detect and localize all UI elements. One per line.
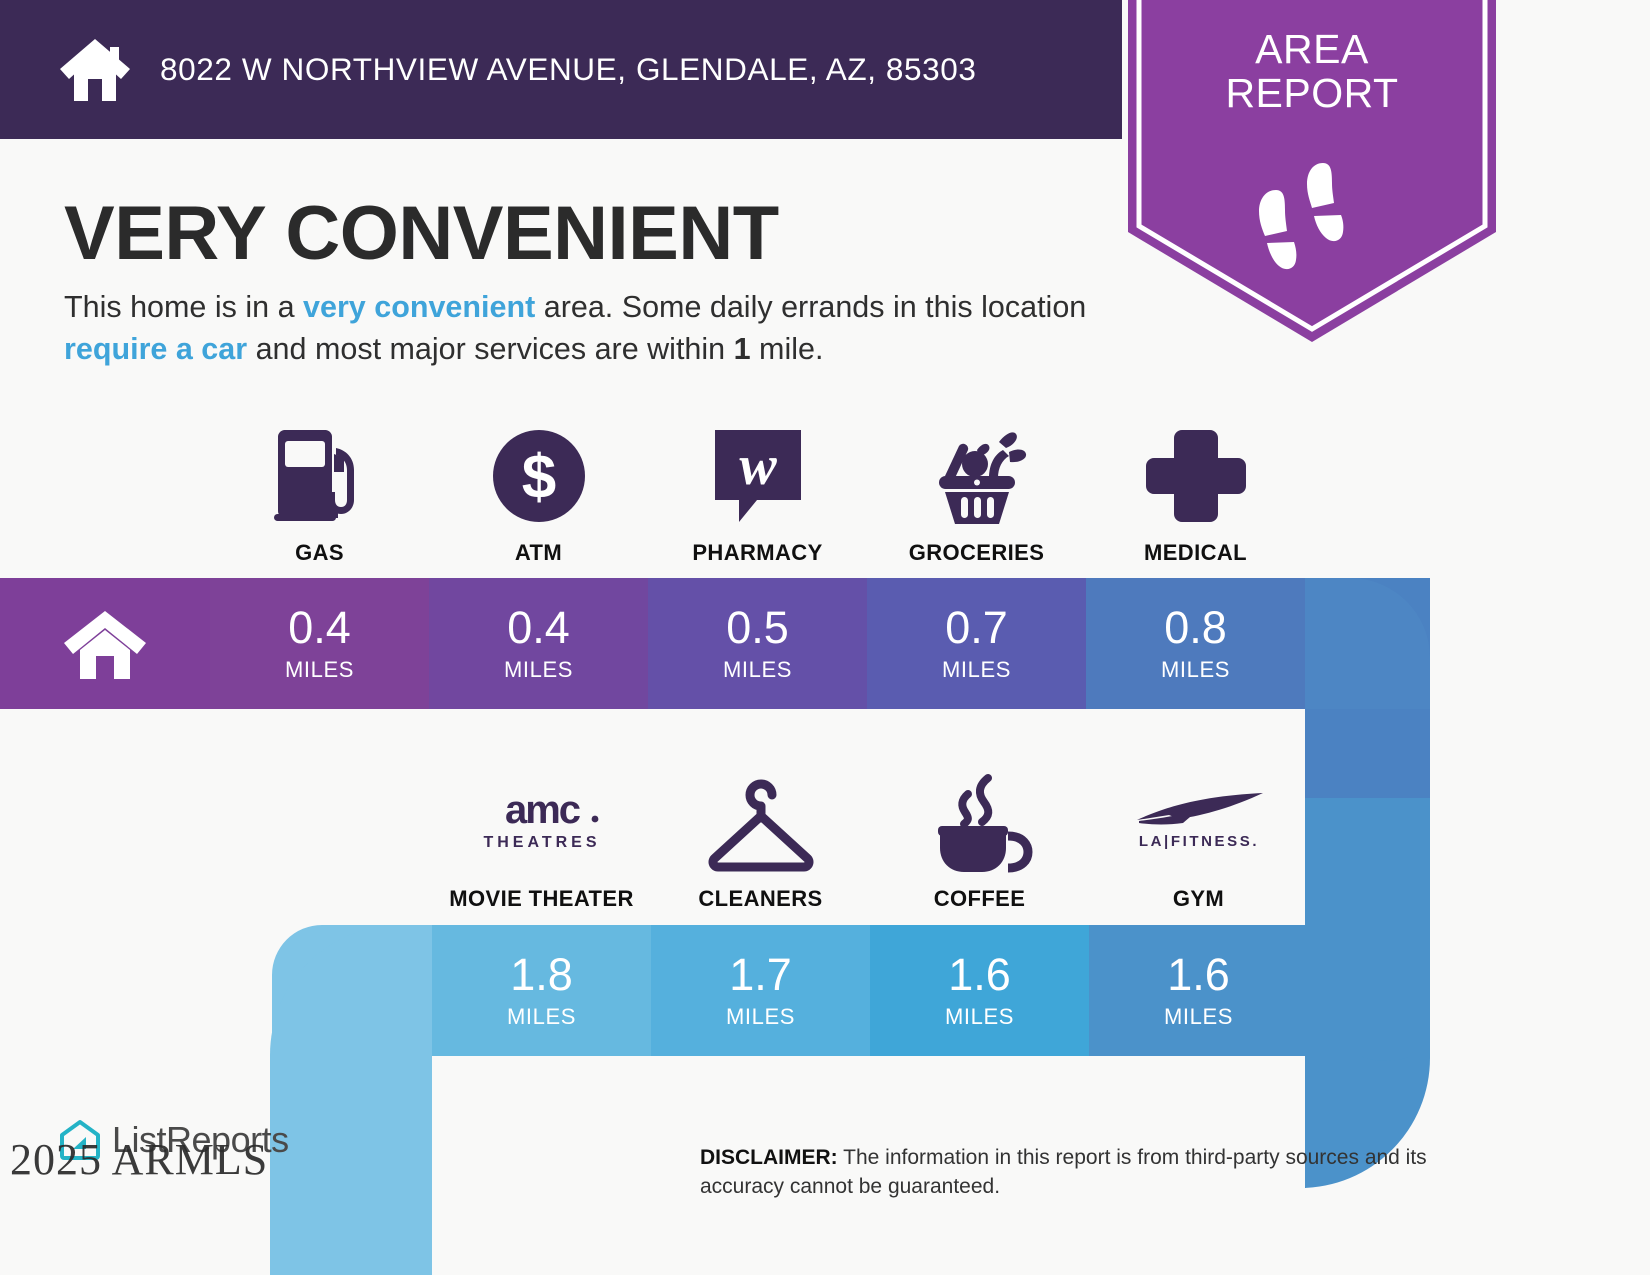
disclaimer: DISCLAIMER: The information in this repo… — [700, 1143, 1510, 1202]
category-movie-theater: amc THEATRES MOVIE THEATER — [432, 770, 651, 912]
subtitle-part-1: This home is in a — [64, 290, 303, 324]
distance-unit: MILES — [1161, 657, 1230, 683]
distance-cell: 0.4 MILES — [210, 578, 429, 709]
category-pharmacy: w PHARMACY — [648, 424, 867, 566]
distance-cell: 1.6 MILES — [1089, 925, 1308, 1056]
distance-unit: MILES — [942, 657, 1011, 683]
category-medical: MEDICAL — [1086, 424, 1305, 566]
category-label: PHARMACY — [692, 540, 822, 566]
category-label: GROCERIES — [909, 540, 1045, 566]
distance-cell: 1.7 MILES — [651, 925, 870, 1056]
distance-value: 1.7 — [729, 952, 792, 997]
distance-value: 0.5 — [726, 605, 789, 650]
subtitle-accent-1: very convenient — [303, 290, 535, 324]
area-report-page: 8022 W NORTHVIEW AVENUE, GLENDALE, AZ, 8… — [0, 0, 1650, 1275]
distance-value: 0.7 — [945, 605, 1008, 650]
home-marker — [0, 578, 210, 709]
category-groceries: GROCERIES — [867, 424, 1086, 566]
badge-line-2: REPORT — [1128, 72, 1496, 116]
home-icon — [62, 607, 148, 681]
category-label: GYM — [1173, 886, 1224, 912]
svg-text:LA|FITNESS.: LA|FITNESS. — [1138, 833, 1258, 850]
gas-pump-icon — [270, 424, 370, 528]
distance-unit: MILES — [726, 1004, 795, 1030]
distance-unit: MILES — [723, 657, 792, 683]
page-title: VERY CONVENIENT — [64, 190, 779, 277]
distance-cell: 0.8 MILES — [1086, 578, 1305, 709]
icon-row-primary: GAS $ ATM w PHARMACY — [210, 424, 1305, 566]
hanger-icon — [702, 770, 820, 874]
amc-theatres-icon: amc THEATRES — [467, 770, 617, 874]
dollar-circle-icon: $ — [489, 424, 589, 528]
distance-unit: MILES — [504, 657, 573, 683]
area-report-badge: AREA REPORT — [1128, 0, 1496, 342]
distance-value: 1.6 — [1167, 952, 1230, 997]
distance-value: 1.8 — [510, 952, 573, 997]
distance-cell: 1.6 MILES — [870, 925, 1089, 1056]
subtitle-accent-2: require a car — [64, 332, 247, 366]
header-bar: 8022 W NORTHVIEW AVENUE, GLENDALE, AZ, 8… — [0, 0, 1122, 139]
distance-value: 0.4 — [507, 605, 570, 650]
distance-unit: MILES — [507, 1004, 576, 1030]
category-gas: GAS — [210, 424, 429, 566]
category-coffee: COFFEE — [870, 770, 1089, 912]
category-atm: $ ATM — [429, 424, 648, 566]
distance-value: 0.4 — [288, 605, 351, 650]
distance-row-primary: 0.4 MILES 0.4 MILES 0.5 MILES 0.7 MILES … — [210, 578, 1305, 709]
category-label: CLEANERS — [698, 886, 822, 912]
coffee-cup-icon — [926, 770, 1034, 874]
category-label: GAS — [295, 540, 344, 566]
subtitle-part-2: area. Some daily errands in this locatio… — [535, 290, 1086, 324]
distance-cell: 1.8 MILES — [432, 925, 651, 1056]
distance-row-secondary: 1.8 MILES 1.7 MILES 1.6 MILES 1.6 MILES — [432, 925, 1308, 1056]
badge-line-1: AREA — [1128, 28, 1496, 72]
grocery-basket-icon — [923, 424, 1031, 528]
category-label: COFFEE — [934, 886, 1026, 912]
la-fitness-icon: LA|FITNESS. — [1119, 770, 1279, 874]
category-label: ATM — [515, 540, 562, 566]
category-label: MOVIE THEATER — [449, 886, 633, 912]
distance-unit: MILES — [1164, 1004, 1233, 1030]
ribbon-topright-white — [1430, 575, 1650, 709]
subtitle-part-4: mile. — [751, 332, 824, 366]
medical-cross-icon — [1146, 424, 1246, 528]
home-icon — [58, 35, 132, 105]
distance-cell: 0.7 MILES — [867, 578, 1086, 709]
category-gym: LA|FITNESS. GYM — [1089, 770, 1308, 912]
badge-text: AREA REPORT — [1128, 28, 1496, 116]
armls-watermark: 2025 ARMLS — [10, 1134, 268, 1185]
walgreens-w-icon: w — [711, 424, 805, 528]
svg-text:amc: amc — [504, 788, 580, 832]
page-subtitle: This home is in a very convenient area. … — [64, 286, 1112, 370]
distance-unit: MILES — [285, 657, 354, 683]
distance-value: 0.8 — [1164, 605, 1227, 650]
svg-text:$: $ — [521, 443, 555, 512]
distance-value: 1.6 — [948, 952, 1011, 997]
svg-text:w: w — [739, 435, 777, 497]
svg-text:THEATRES: THEATRES — [483, 834, 600, 851]
distance-unit: MILES — [945, 1004, 1014, 1030]
icon-row-secondary: amc THEATRES MOVIE THEATER CLEANERS — [432, 770, 1308, 912]
category-cleaners: CLEANERS — [651, 770, 870, 912]
distance-cell: 0.4 MILES — [429, 578, 648, 709]
subtitle-part-3: and most major services are within — [247, 332, 733, 366]
property-address: 8022 W NORTHVIEW AVENUE, GLENDALE, AZ, 8… — [160, 51, 977, 88]
disclaimer-label: DISCLAIMER: — [700, 1146, 838, 1169]
category-label: MEDICAL — [1144, 540, 1247, 566]
subtitle-miles-number: 1 — [734, 332, 751, 366]
distance-cell: 0.5 MILES — [648, 578, 867, 709]
